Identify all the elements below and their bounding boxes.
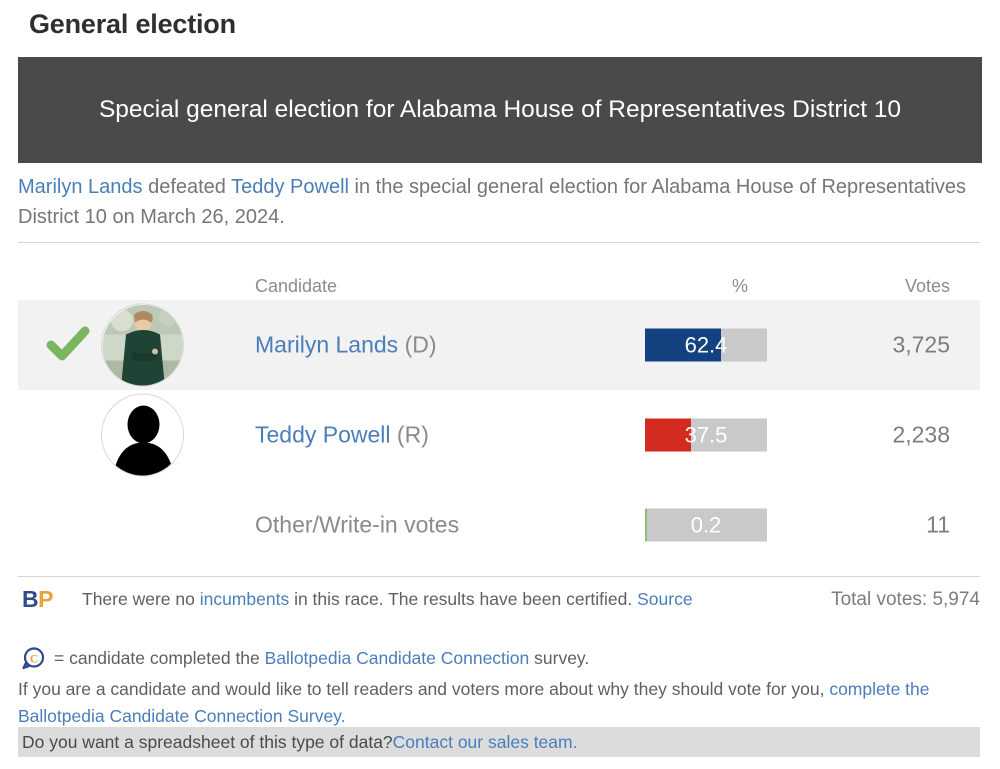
table-row: Teddy Powell (R) 37.5 2,238 [18, 390, 980, 480]
candidate-connection-icon: C [22, 646, 46, 670]
footer: BP There were no incumbents in this race… [18, 584, 980, 730]
candidate-connection-legend: C = candidate completed the Ballotpedia … [18, 646, 980, 672]
cc-legend-post: survey. [529, 648, 589, 668]
cc-legend-pre: = candidate completed the [54, 648, 265, 668]
race-banner-title: Special general election for Alabama Hou… [99, 91, 901, 129]
link-contact-sales[interactable]: Contact our sales team. [393, 732, 578, 753]
description-mid-1: defeated [143, 176, 232, 198]
percent-bar-label: 62.4 [645, 329, 767, 362]
link-loser-name[interactable]: Teddy Powell [231, 176, 349, 198]
table-row: Other/Write-in votes 0.2 11 [18, 480, 980, 570]
divider-above-footer [18, 576, 980, 577]
vote-count: 11 [818, 512, 950, 539]
results-table: Candidate % Votes [18, 250, 980, 570]
footer-note-row: BP There were no incumbents in this race… [18, 584, 980, 640]
vote-count: 2,238 [818, 422, 950, 449]
candidate-invitation: If you are a candidate and would like to… [18, 676, 980, 730]
percent-bar: 0.2 [645, 509, 767, 542]
sales-banner-text: Do you want a spreadsheet of this type o… [22, 732, 393, 753]
green-check-icon [46, 323, 90, 367]
percent-bar: 37.5 [645, 419, 767, 452]
race-banner: Special general election for Alabama Hou… [18, 57, 982, 163]
footer-note: There were no incumbents in this race. T… [82, 587, 702, 612]
race-description: Marilyn Lands defeated Teddy Powell in t… [18, 172, 978, 232]
logo-letter-p: P [38, 586, 53, 612]
percent-bar: 62.4 [645, 329, 767, 362]
column-header-votes: Votes [818, 276, 950, 297]
election-results-card: General election Special general electio… [0, 0, 1000, 769]
percent-bar-label: 37.5 [645, 419, 767, 452]
sales-banner: Do you want a spreadsheet of this type o… [18, 727, 980, 757]
link-candidate-connection[interactable]: Ballotpedia Candidate Connection [265, 648, 530, 668]
page-title: General election [29, 9, 236, 40]
table-header-row: Candidate % Votes [18, 250, 980, 300]
total-votes: Total votes: 5,974 [831, 587, 980, 612]
candidate-name-link[interactable]: Marilyn Lands [255, 332, 398, 358]
footer-note-mid: in this race. The results have been cert… [289, 589, 637, 609]
column-header-percent: % [685, 276, 795, 297]
footer-note-pre: There were no [82, 589, 200, 609]
divider-above-table [18, 242, 980, 243]
percent-bar-label: 0.2 [645, 509, 767, 542]
candidate-party: (R) [391, 422, 429, 448]
candidate-name-text: Other/Write-in votes [255, 512, 459, 538]
invitation-text: If you are a candidate and would like to… [18, 679, 829, 699]
link-winner-name[interactable]: Marilyn Lands [18, 176, 143, 198]
candidate-name: Marilyn Lands (D) [255, 332, 437, 359]
link-source[interactable]: Source [637, 589, 692, 609]
candidate-name: Teddy Powell (R) [255, 422, 429, 449]
vote-count: 3,725 [818, 332, 950, 359]
candidate-name-link[interactable]: Teddy Powell [255, 422, 391, 448]
table-row: Marilyn Lands (D) 62.4 3,725 [18, 300, 980, 390]
avatar[interactable] [101, 304, 184, 387]
avatar[interactable] [101, 394, 184, 477]
logo-letter-b: B [22, 586, 38, 612]
svg-text:C: C [30, 654, 38, 666]
candidate-party: (D) [398, 332, 436, 358]
ballotpedia-logo: BP [22, 587, 53, 612]
column-header-candidate: Candidate [255, 276, 337, 297]
link-incumbents[interactable]: incumbents [200, 589, 290, 609]
candidate-name: Other/Write-in votes [255, 512, 459, 539]
